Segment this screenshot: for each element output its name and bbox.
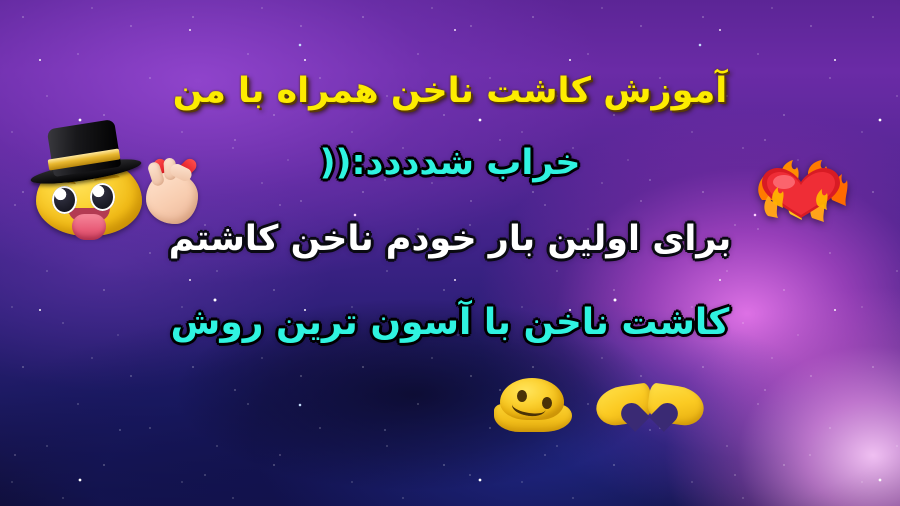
melting-face-icon <box>492 378 576 434</box>
smiling-face-with-top-hat-icon <box>28 128 156 238</box>
heart-highlight <box>773 175 795 189</box>
finger-heart-icon <box>140 150 206 228</box>
heart-on-fire-icon <box>752 160 850 224</box>
caption-line-4: کاشت ناخن با آسون ترین روش <box>0 305 900 341</box>
emoji-tongue <box>72 214 106 240</box>
emoji-eye-right <box>90 183 115 211</box>
heart-hands-icon <box>598 380 702 432</box>
caption-line-1: آموزش کاشت ناخن همراه با من <box>0 74 900 109</box>
thumbnail-canvas: آموزش کاشت ناخن همراه با من خراب شدددد:(… <box>0 0 900 506</box>
emoji-eye-left <box>52 186 77 214</box>
heart-hands-negative-space <box>628 389 672 423</box>
